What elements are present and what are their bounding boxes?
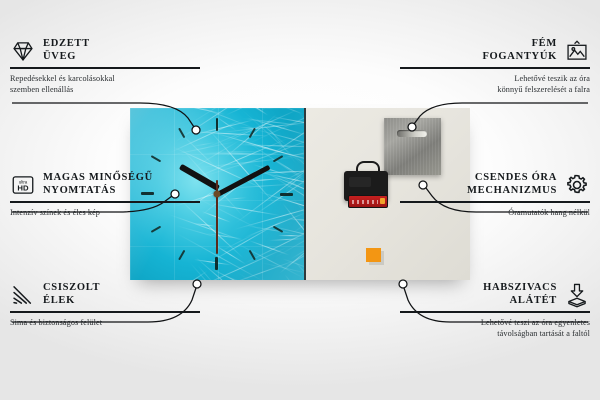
diagonal-lines-icon: [10, 282, 36, 308]
feature-title-line1: CSISZOLT: [43, 282, 100, 295]
feature-header: FÉM FOGANTYÚK: [400, 38, 590, 64]
feature-subtitle-line2: szemben ellenállás: [10, 84, 200, 95]
feature-title: EDZETT ÜVEG: [43, 38, 90, 64]
feature-header: CSENDES ÓRA MECHANIZMUS: [400, 172, 590, 198]
feature-subtitle-line1: Sima és biztonságos felület: [10, 317, 200, 328]
feature-title-line1: FÉM: [482, 38, 557, 51]
feature-divider: [400, 201, 590, 203]
infographic-stage: EDZETT ÜVEG Repedésekkel és karcolásokka…: [0, 0, 600, 400]
gear-icon: [564, 172, 590, 198]
feature-title-line2: MECHANIZMUS: [467, 185, 557, 198]
feature-title-line2: ÜVEG: [43, 51, 90, 64]
feature-subtitle: Lehetővé teszik az óra könnyű felszerelé…: [400, 73, 590, 95]
feature-subtitle: Repedésekkel és karcolásokkal szemben el…: [10, 73, 200, 95]
feature-title-line1: HABSZIVACS: [483, 282, 557, 295]
feature-title-line2: ALÁTÉT: [483, 295, 557, 308]
feature-divider: [10, 67, 200, 69]
feature-subtitle: Intenzív színek és éles kép: [10, 207, 200, 218]
hour-marker: [215, 257, 218, 270]
battery: [348, 195, 388, 208]
feature-title: MAGAS MINŐSÉGŰ NYOMTATÁS: [43, 172, 153, 198]
foam-pad: [366, 248, 381, 262]
hour-marker: [178, 250, 185, 261]
hour-marker: [178, 128, 185, 139]
diamond-icon: [10, 38, 36, 64]
feature-title: CSENDES ÓRA MECHANIZMUS: [467, 172, 557, 198]
feature-header: EDZETT ÜVEG: [10, 38, 200, 64]
battery-label-stripes: [352, 200, 378, 204]
hour-marker: [216, 118, 219, 131]
feature-header: HABSZIVACS ALÁTÉT: [400, 282, 590, 308]
ultra-hd-icon: ultra HD: [10, 172, 36, 198]
hour-marker: [273, 155, 284, 162]
hour-marker: [273, 226, 284, 233]
feature-header: CSISZOLT ÉLEK: [10, 282, 200, 308]
feature-title: CSISZOLT ÉLEK: [43, 282, 100, 308]
picture-frame-hook-icon: [564, 38, 590, 64]
hanger-keyhole-slot: [397, 130, 427, 137]
feature-subtitle-line1: Óramutatók hang nélkül: [400, 207, 590, 218]
hour-marker: [151, 226, 162, 233]
feature-title-line1: CSENDES ÓRA: [467, 172, 557, 185]
feature-subtitle-line1: Intenzív színek és éles kép: [10, 207, 200, 218]
hour-marker: [249, 128, 256, 139]
feature-divider: [400, 311, 590, 313]
hour-marker: [249, 250, 256, 261]
feature-subtitle: Sima és biztonságos felület: [10, 317, 200, 328]
feature-subtitle-line2: távolságban tartását a faltól: [400, 328, 590, 339]
feature-subtitle-line1: Lehetővé teszik az óra: [400, 73, 590, 84]
feature-title-line2: FOGANTYÚK: [482, 51, 557, 64]
feature-polished-edges: CSISZOLT ÉLEK Sima és biztonságos felüle…: [10, 282, 200, 328]
metal-grain: [384, 118, 441, 175]
feature-subtitle-line1: Lehetővé teszi az óra egyenletes: [400, 317, 590, 328]
feature-title-line1: EDZETT: [43, 38, 90, 51]
feature-divider: [10, 311, 200, 313]
hour-marker: [280, 193, 293, 196]
feature-subtitle-line1: Repedésekkel és karcolásokkal: [10, 73, 200, 84]
feature-divider: [400, 67, 590, 69]
feature-title: FÉM FOGANTYÚK: [482, 38, 557, 64]
feature-foam-pad: HABSZIVACS ALÁTÉT Lehetővé teszi az óra …: [400, 282, 590, 339]
hour-marker: [151, 155, 162, 162]
clock-mechanism: [344, 168, 388, 210]
feature-title-line1: MAGAS MINŐSÉGŰ: [43, 172, 153, 185]
minute-hand: [217, 164, 270, 195]
feature-subtitle-line2: könnyű felszerelését a falra: [400, 84, 590, 95]
feature-title: HABSZIVACS ALÁTÉT: [483, 282, 557, 308]
feature-title-line2: ÉLEK: [43, 295, 100, 308]
feature-silent-clock-mechanism: CSENDES ÓRA MECHANIZMUS Óramutatók hang …: [400, 172, 590, 218]
feature-metal-handles: FÉM FOGANTYÚK Lehetővé teszik az óra kön…: [400, 38, 590, 95]
feature-header: ultra HD MAGAS MINŐSÉGŰ NYOMTATÁS: [10, 172, 200, 198]
clock-center-cap: [213, 191, 220, 198]
second-hand: [216, 194, 218, 254]
press-down-pad-icon: [564, 282, 590, 308]
feature-tempered-glass: EDZETT ÜVEG Repedésekkel és karcolásokka…: [10, 38, 200, 95]
feature-title-line2: NYOMTATÁS: [43, 185, 153, 198]
feature-subtitle: Lehetővé teszi az óra egyenletes távolsá…: [400, 317, 590, 339]
feature-high-quality-print: ultra HD MAGAS MINŐSÉGŰ NYOMTATÁS Intenz…: [10, 172, 200, 218]
metal-hanger-plate: [384, 118, 441, 175]
svg-text:HD: HD: [17, 184, 29, 193]
feature-divider: [10, 201, 200, 203]
feature-subtitle: Óramutatók hang nélkül: [400, 207, 590, 218]
